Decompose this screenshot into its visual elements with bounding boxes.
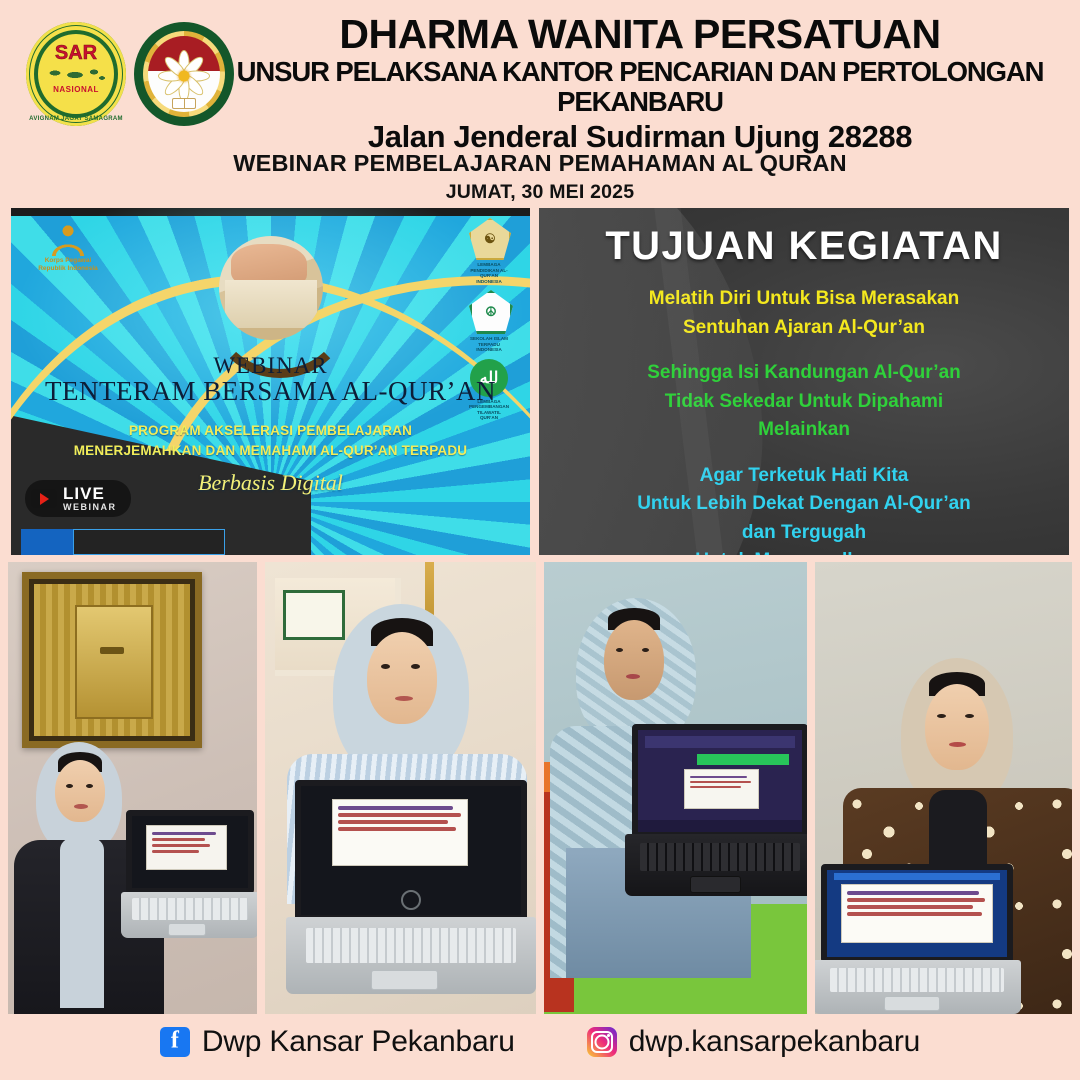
objective-1-line-1: Melatih Diri Untuk Bisa Merasakan [539, 285, 1069, 314]
gallery-photo-3 [544, 562, 807, 1014]
objective-2-line-2: Tidak Sekedar Untuk Dipahami [539, 388, 1069, 417]
play-icon [31, 489, 57, 508]
sar-logo-subtext: NASIONAL [53, 85, 99, 94]
live-badge-line1: LIVE [63, 485, 117, 502]
participant-tile [21, 529, 73, 555]
objective-3-line-1: Agar Terketuk Hati Kita [539, 462, 1069, 491]
poster-canvas: SAR NASIONAL AVIGNAM JAGAT SAMAGRAM [0, 0, 1080, 1080]
photo-gallery-row [8, 562, 1072, 1014]
korpri-logo-icon: Korps Pegawai Republik Indonesia [29, 222, 107, 273]
instagram-link[interactable]: dwp.kansarpekanbaru [587, 1025, 920, 1059]
header-title-block: DHARMA WANITA PERSATUAN UNSUR PELAKSANA … [200, 14, 1080, 155]
event-date: JUMAT, 30 MEI 2025 [0, 181, 1080, 204]
slide-program-text: PROGRAM AKSELERASI PEMBELAJARAN MENERJEM… [11, 421, 530, 460]
tujuan-kegiatan-title: TUJUAN KEGIATAN [539, 224, 1069, 269]
gallery-photo-4 [815, 562, 1072, 1014]
facebook-icon [160, 1027, 190, 1057]
open-book-icon [172, 98, 196, 109]
indonesia-map-icon [45, 64, 107, 86]
instagram-handle: dwp.kansarpekanbaru [629, 1025, 920, 1059]
poster-header: SAR NASIONAL AVIGNAM JAGAT SAMAGRAM [0, 0, 1080, 140]
facebook-link[interactable]: Dwp Kansar Pekanbaru [160, 1025, 515, 1059]
sar-nasional-logo-icon: SAR NASIONAL AVIGNAM JAGAT SAMAGRAM [26, 22, 126, 126]
objective-1-line-2: Sentuhan Ajaran Al-Qur’an [539, 314, 1069, 343]
objective-2-line-1: Sehingga Isi Kandungan Al-Qur’an [539, 359, 1069, 388]
kaaba-door-picture-frame [22, 572, 202, 748]
participant-tile [73, 529, 225, 555]
event-name: WEBINAR PEMBELAJARAN PEMAHAMAN AL QURAN [0, 150, 1080, 177]
live-webinar-badge: LIVE WEBINAR [25, 480, 131, 517]
slide-heading-line2: TENTERAM BERSAMA AL-QUR’AN [11, 377, 530, 407]
laptop-device [295, 780, 527, 994]
gallery-photo-1 [8, 562, 257, 1014]
participant-thumbnail-strip [21, 529, 231, 555]
partner-logo-2-icon: ☮ SEKOLAH ISLAM TERPADU INDONESIA [469, 290, 509, 353]
partner-logo-2-caption: SEKOLAH ISLAM TERPADU INDONESIA [469, 336, 509, 353]
live-badge-line2: WEBINAR [63, 503, 117, 512]
quran-wreath-emblem-icon [205, 234, 337, 362]
slide-heading-line1: WEBINAR [11, 354, 530, 378]
laptop-device [821, 864, 1013, 1014]
program-line1: PROGRAM AKSELERASI PEMBELAJARAN [11, 421, 530, 441]
objective-2-line-3: Melainkan [539, 416, 1069, 445]
objective-3-line-2: Untuk Lebih Dekat Dengan Al-Qur’an [539, 490, 1069, 519]
gallery-photo-2 [265, 562, 536, 1014]
tujuan-kegiatan-body: Melatih Diri Untuk Bisa Merasakan Sentuh… [539, 285, 1069, 555]
objective-3-line-3: dan Tergugah [539, 519, 1069, 548]
tujuan-kegiatan-slide: TUJUAN KEGIATAN Melatih Diri Untuk Bisa … [539, 208, 1069, 555]
sar-logo-acronym: SAR [55, 43, 97, 63]
korpri-label-line1: Korps Pegawai [29, 257, 107, 265]
objective-group-3: Agar Terketuk Hati Kita Untuk Lebih Deka… [539, 462, 1069, 556]
program-line2: MENERJEMAHKAN DAN MEMAHAMI AL-QUR’AN TER… [11, 441, 530, 461]
korpri-label-line2: Republik Indonesia [29, 265, 107, 273]
partner-logo-1-icon: ☯ LEMBAGA PENDIDIKAN AL-QUR’AN INDONESIA [469, 218, 509, 284]
webinar-title-slide: Korps Pegawai Republik Indonesia ☯ LEMBA… [11, 208, 530, 555]
org-title-line2: UNSUR PELAKSANA KANTOR PENCARIAN DAN PER… [200, 57, 1080, 118]
slides-row: Korps Pegawai Republik Indonesia ☯ LEMBA… [11, 208, 1069, 555]
instagram-icon [587, 1027, 617, 1057]
objective-group-2: Sehingga Isi Kandungan Al-Qur’an Tidak S… [539, 359, 1069, 445]
sar-logo-motto: AVIGNAM JAGAT SAMAGRAM [26, 116, 126, 122]
partner-logo-1-caption: LEMBAGA PENDIDIKAN AL-QUR’AN INDONESIA [469, 262, 509, 284]
social-footer: Dwp Kansar Pekanbaru dwp.kansarpekanbaru [0, 1016, 1080, 1068]
laptop-device [126, 810, 254, 938]
org-title-line1: DHARMA WANITA PERSATUAN [200, 14, 1080, 56]
objective-3-line-4: Untuk Mengamalkannya [539, 547, 1069, 555]
laptop-device [632, 724, 807, 896]
slide-heading: WEBINAR TENTERAM BERSAMA AL-QUR’AN [11, 354, 530, 407]
objective-group-1: Melatih Diri Untuk Bisa Merasakan Sentuh… [539, 285, 1069, 342]
event-subtitle-block: WEBINAR PEMBELAJARAN PEMAHAMAN AL QURAN … [0, 150, 1080, 204]
facebook-handle: Dwp Kansar Pekanbaru [202, 1025, 515, 1059]
